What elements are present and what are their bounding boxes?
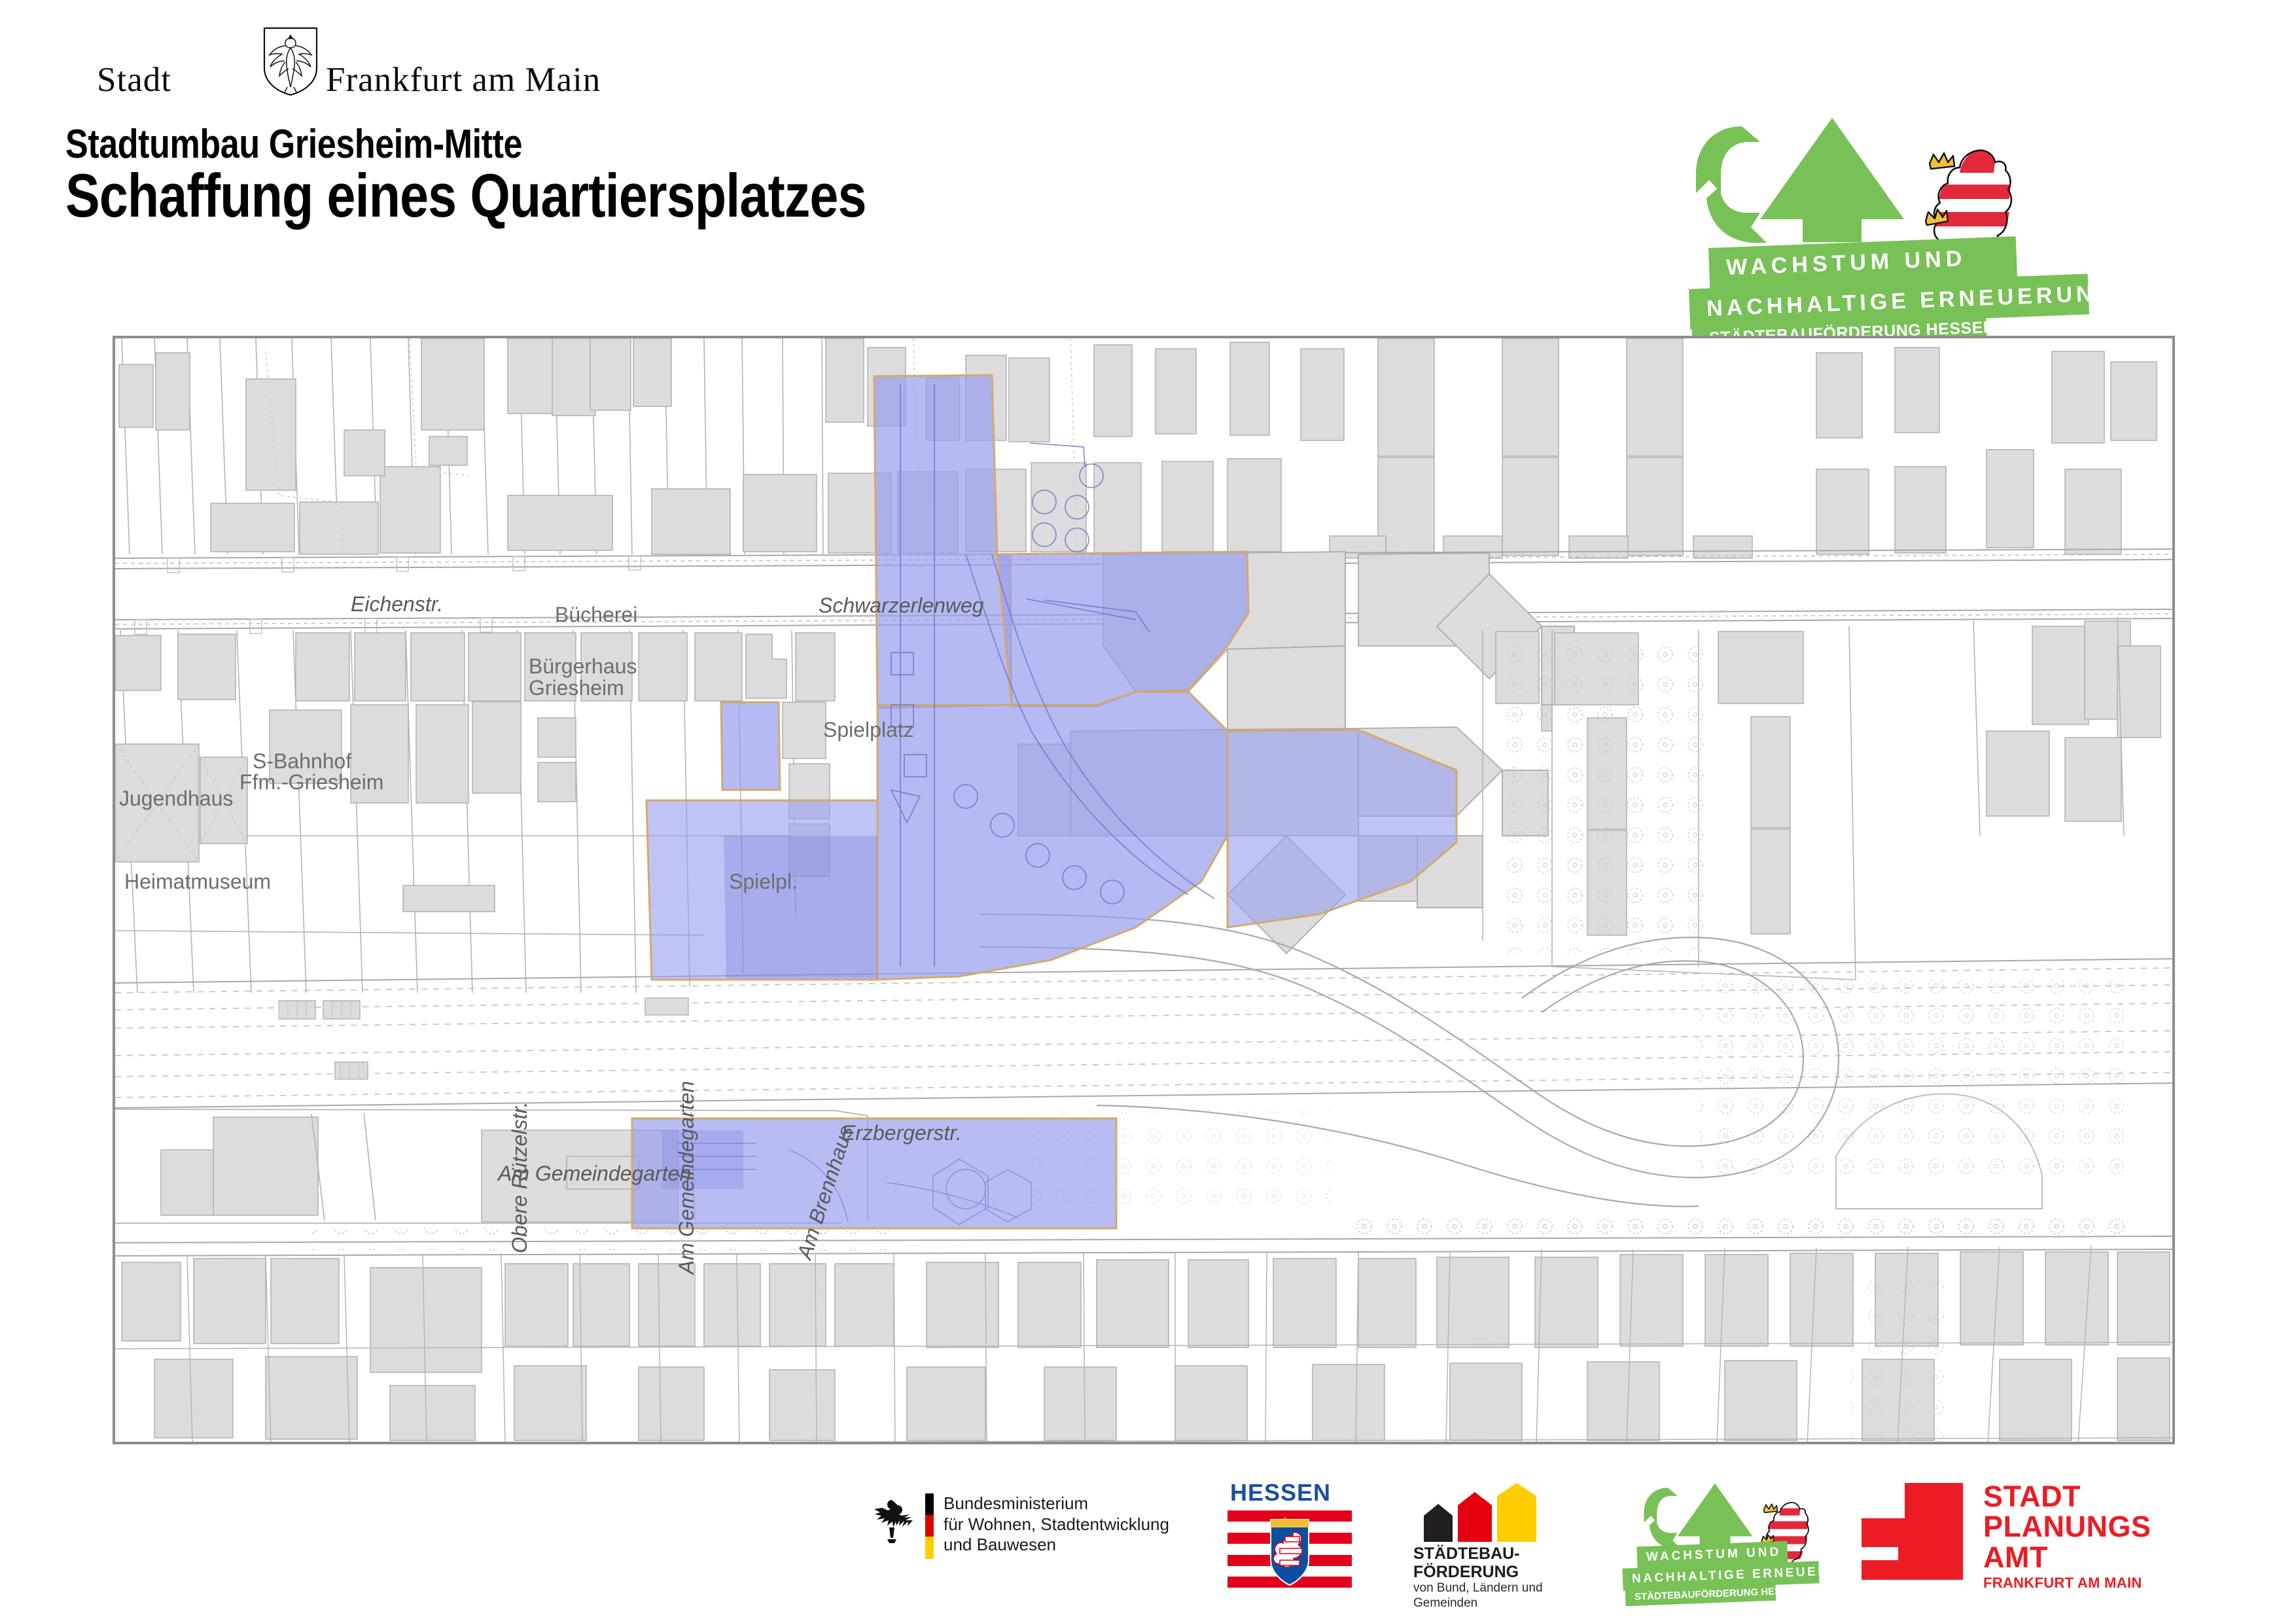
staedtebau-title: STÄDTEBAU- FÖRDERUNG (1413, 1544, 1520, 1581)
cadastral-map[interactable]: Eichenstr. Schwarzerlenweg Erzbergerstr.… (113, 336, 2175, 1444)
poi-label-ffm-griesheim: Ffm.-Griesheim (239, 770, 383, 794)
poi-label-spielplatz: Spielplatz (823, 718, 914, 742)
stadtplanungsamt-title: STADT PLANUNGS AMT (1983, 1482, 2151, 1573)
bmwsb-logo: Bundesministerium für Wohnen, Stadtentwi… (870, 1484, 1178, 1573)
highlight-parcel-overlap (724, 836, 877, 978)
poi-label-buecherei: Bücherei (555, 603, 637, 627)
street-label-am-gemeindegarten-vertical: Am Gemeindegarten (675, 1081, 699, 1274)
stadtplanungsamt-mark-icon (1862, 1483, 1963, 1580)
map-canvas: Eichenstr. Schwarzerlenweg Erzbergerstr.… (115, 338, 2172, 1442)
hessen-coat-of-arms-icon (1227, 1510, 1352, 1588)
street-label-schwarzerlenweg: Schwarzerlenweg (819, 594, 984, 618)
staedtebau-line1: STÄDTEBAU- (1413, 1544, 1520, 1563)
staedtebau-sub1: von Bund, Ländern und (1413, 1581, 1543, 1596)
german-flag-bar-icon (925, 1493, 934, 1559)
bmwsb-text: Bundesministerium für Wohnen, Stadtentwi… (944, 1493, 1169, 1556)
three-houses-icon (1420, 1482, 1544, 1542)
poi-label-heimatmuseum: Heimatmuseum (124, 870, 271, 894)
bmwsb-line3: und Bauwesen (944, 1535, 1169, 1556)
map-vector-layer (115, 338, 2172, 1442)
spa-subtitle: FRANKFURT AM MAIN (1983, 1575, 2142, 1592)
street-label-obere-ruetzelstr: Obere Rützelstr. (508, 1101, 532, 1253)
frankfurt-eagle-crest-icon (262, 26, 319, 97)
poi-label-spielpl: Spielpl. (729, 870, 798, 894)
street-label-erzbergerstr: Erzbergerstr. (841, 1121, 962, 1145)
poster-page: Stadt Frankfurt am Main Stadtumbau Gries… (0, 0, 2296, 1623)
spa-line3: AMT (1983, 1543, 2151, 1573)
spa-line1: STADT (1983, 1482, 2151, 1512)
poi-label-jugendhaus: Jugendhaus (119, 787, 233, 811)
highlight-parcel-158-4 (721, 702, 780, 790)
staedtebau-subtitle: von Bund, Ländern und Gemeinden (1413, 1581, 1543, 1611)
poi-label-buergerhaus: Bürgerhaus (529, 654, 637, 679)
page-title: Schaffung eines Quartiersplatzes (65, 160, 866, 231)
street-label-eichenstr: Eichenstr. (351, 592, 443, 616)
footer-logo-bar: Bundesministerium für Wohnen, Stadtentwi… (0, 1472, 2296, 1623)
bmwsb-line2: für Wohnen, Stadtentwicklung (944, 1514, 1169, 1535)
staedtebau-line2: FÖRDERUNG (1413, 1563, 1520, 1581)
city-logo-text-stadt: Stadt (97, 60, 171, 99)
city-logo-text-frankfurt: Frankfurt am Main (326, 60, 601, 99)
bmwsb-line1: Bundesministerium (944, 1493, 1169, 1514)
highlight-north-arm (874, 375, 1012, 708)
hessen-logo: HESSEN (1227, 1479, 1352, 1587)
city-of-frankfurt-logo: Stadt Frankfurt am Main (97, 26, 516, 98)
staedtebau-sub2: Gemeinden (1413, 1596, 1543, 1611)
hessen-wordmark: HESSEN (1230, 1479, 1331, 1507)
footer-program-logo: WACHSTUM UND NACHHALTIGE ERNEUERUNG STÄD… (1616, 1482, 1845, 1606)
spa-line2: PLANUNGS (1983, 1512, 2151, 1542)
bundesadler-icon (870, 1496, 913, 1550)
stadtplanungsamt-logo: STADT PLANUNGS AMT FRANKFURT AM MAIN (1862, 1483, 2123, 1597)
staedtebaufoerderung-logo: STÄDTEBAU- FÖRDERUNG von Bund, Ländern u… (1413, 1482, 1597, 1599)
poi-label-griesheim: Griesheim (529, 676, 624, 700)
